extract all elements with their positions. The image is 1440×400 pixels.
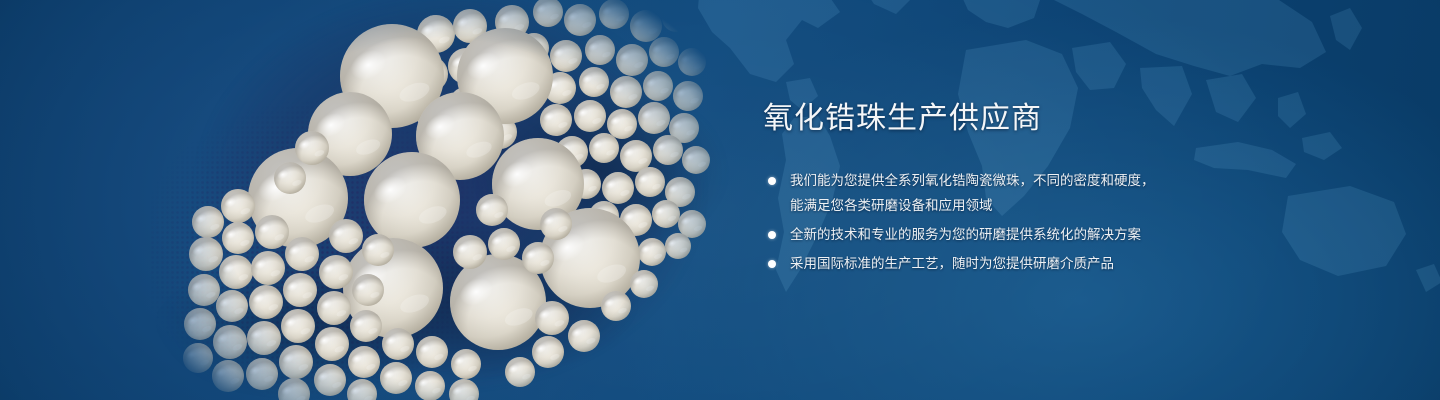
list-item: 全新的技术和专业的服务为您的研磨提供系统化的解决方案	[760, 222, 1260, 247]
list-item: 采用国际标准的生产工艺，随时为您提供研磨介质产品	[760, 251, 1260, 276]
banner-copy: 氧化锆珠生产供应商 我们能为您提供全系列氧化锆陶瓷微珠，不同的密度和硬度， 能满…	[760, 104, 1260, 280]
feature-list: 我们能为您提供全系列氧化锆陶瓷微珠，不同的密度和硬度， 能满足您各类研磨设备和应…	[760, 168, 1260, 276]
bullet-text-line2: 能满足您各类研磨设备和应用领域	[790, 193, 1260, 218]
page-title: 氧化锆珠生产供应商	[763, 104, 1260, 134]
hero-banner: 氧化锆珠生产供应商 我们能为您提供全系列氧化锆陶瓷微珠，不同的密度和硬度， 能满…	[0, 0, 1440, 400]
bullet-text-line1: 全新的技术和专业的服务为您的研磨提供系统化的解决方案	[790, 227, 1141, 242]
bullet-dot-icon	[768, 260, 776, 268]
list-item: 我们能为您提供全系列氧化锆陶瓷微珠，不同的密度和硬度， 能满足您各类研磨设备和应…	[760, 168, 1260, 218]
bullet-dot-icon	[768, 231, 776, 239]
bullet-text-line1: 我们能为您提供全系列氧化锆陶瓷微珠，不同的密度和硬度，	[790, 173, 1155, 188]
bullet-text-line1: 采用国际标准的生产工艺，随时为您提供研磨介质产品	[790, 256, 1114, 271]
bullet-dot-icon	[768, 177, 776, 185]
